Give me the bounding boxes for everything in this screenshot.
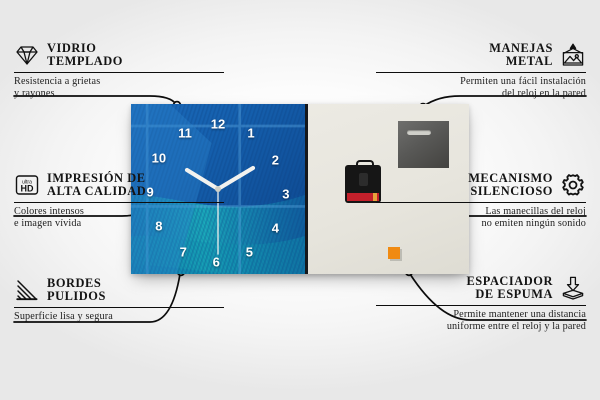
feature-impresion-alta-calidad: ultra HD IMPRESIÓN DE ALTA CALIDAD Color… [14,172,224,230]
gear-icon [560,172,586,198]
feature-title: MECANISMO SILENCIOSO [468,172,553,199]
divider [376,305,586,306]
divider [376,202,586,203]
feature-subtitle: Permiten una fácil instalación del reloj… [376,76,586,99]
polished-edges-icon [14,277,40,303]
divider [14,72,224,73]
feature-subtitle: Las manecillas del reloj no emiten ningú… [376,206,586,229]
feature-vidrio-templado: VIDRIO TEMPLADO Resistencia a grietas y … [14,42,224,100]
feature-mecanismo-silencioso: MECANISMO SILENCIOSO Las manecillas del … [376,172,586,230]
picture-frame-hanger-icon [560,42,586,68]
foam-spacer [388,247,400,259]
feature-espaciador-espuma: ESPACIADOR DE ESPUMA Permite mantener un… [376,275,586,333]
metal-hanger-plate [398,121,449,168]
feature-subtitle: Permite mantener una distancia uniforme … [376,309,586,332]
feature-subtitle: Resistencia a grietas y rayones [14,76,224,99]
feature-title: IMPRESIÓN DE ALTA CALIDAD [47,172,146,199]
divider [14,307,224,308]
feature-subtitle: Colores intensos e imagen vívida [14,206,224,229]
movement-hook [356,160,374,169]
feature-manejas-metal: MANEJAS METAL Permiten una fácil instala… [376,42,586,100]
feature-title: VIDRIO TEMPLADO [47,42,123,69]
movement-sticker [347,193,379,201]
feature-title: MANEJAS METAL [489,42,553,69]
diamond-icon [14,42,40,68]
divider [376,72,586,73]
svg-text:HD: HD [21,184,34,194]
foam-spacer-arrow-icon [560,275,586,301]
feature-subtitle: Superficie lisa y segura [14,311,224,323]
infographic-canvas: 12 1 2 3 4 5 6 7 8 9 10 11 [0,0,600,400]
movement-shaft [359,173,368,186]
ultra-hd-icon: ultra HD [14,172,40,198]
hanger-slot [407,130,431,135]
feature-title: ESPACIADOR DE ESPUMA [466,275,553,302]
feature-title: BORDES PULIDOS [47,277,106,304]
divider [14,202,224,203]
feature-bordes-pulidos: BORDES PULIDOS Superficie lisa y segura [14,277,224,323]
